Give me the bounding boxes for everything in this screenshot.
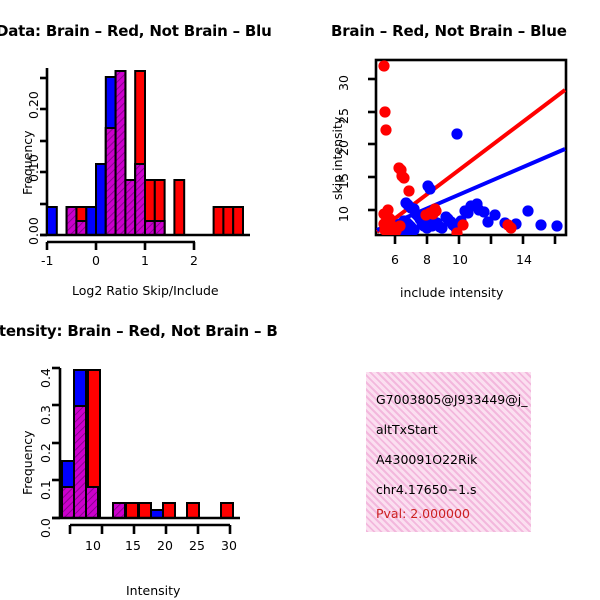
top-left-xtick-2: 1: [141, 253, 149, 268]
bottom-left-ytick-0: 0.0: [38, 518, 53, 538]
bottom-left-x-axis: [70, 525, 230, 534]
top-right-xtick-8: 8: [423, 252, 431, 267]
bottom-left-y-axis: [52, 368, 60, 518]
top-right-ytick-3: 25: [336, 108, 351, 124]
top-left-histogram-plot: [0, 50, 300, 285]
top-right-ytick-4: 30: [336, 75, 351, 91]
bottom-left-xtick-10: 10: [85, 538, 101, 553]
scatter-points-blue: [393, 128, 562, 239]
bottom-left-xtick-15: 15: [125, 538, 141, 553]
bottom-left-xtick-20: 20: [157, 538, 173, 553]
top-right-ytick-1: 15: [336, 173, 351, 189]
top-left-xlabel: Log2 Ratio Skip/Include: [72, 283, 219, 298]
info-line-locus: G7003805@J933449@j_: [376, 392, 527, 407]
top-right-xtick-14: 14: [516, 252, 532, 267]
bottom-left-ytick-4: 0.4: [38, 368, 53, 388]
bottom-left-ytick-2: 0.2: [38, 443, 53, 463]
top-left-y-axis: [40, 68, 47, 235]
top-left-x-axis: [47, 242, 195, 250]
top-right-ytick-0: 10: [336, 206, 351, 222]
top-left-ytick-2: 0.20: [26, 91, 41, 119]
top-right-xtick-10: 10: [452, 252, 468, 267]
info-line-event-type: altTxStart: [376, 422, 438, 437]
bottom-left-xlabel: Intensity: [126, 583, 180, 598]
bottom-left-ytick-1: 0.1: [38, 480, 53, 500]
info-line-gene-symbol: A430091O22Rik: [376, 452, 477, 467]
bottom-left-xtick-25: 25: [189, 538, 205, 553]
annotation-info-box: G7003805@J933449@j_ altTxStart A430091O2…: [366, 372, 531, 532]
top-left-title: atioData: Brain – Red, Not Brain – Blu: [0, 22, 272, 40]
top-left-ytick-1: 0.10: [26, 154, 41, 182]
top-left-xtick-3: 2: [190, 253, 198, 268]
bottom-left-title: ne Itensity: Brain – Red, Not Brain – B: [0, 322, 278, 340]
top-left-title-clip: atioData: Brain – Red, Not Brain – Blu: [0, 22, 300, 44]
info-line-pval: Pval: 2.000000: [376, 506, 470, 521]
top-right-x-ticks: [395, 235, 555, 244]
top-right-xtick-6: 6: [391, 252, 399, 267]
top-left-ytick-0: 0.00: [26, 217, 41, 245]
top-right-title: Brain – Red, Not Brain – Blue: [331, 22, 567, 40]
bottom-left-title-clip: ne Itensity: Brain – Red, Not Brain – B: [0, 322, 310, 344]
top-right-ytick-2: 20: [336, 140, 351, 156]
bottom-left-xtick-30: 30: [221, 538, 237, 553]
info-line-coordinate: chr4.17650−1.s: [376, 482, 477, 497]
top-left-xtick-0: -1: [41, 253, 53, 268]
bottom-left-ytick-3: 0.3: [38, 405, 53, 425]
figure-canvas: atioData: Brain – Red, Not Brain – Blu F…: [0, 0, 600, 600]
top-left-xtick-1: 0: [92, 253, 100, 268]
